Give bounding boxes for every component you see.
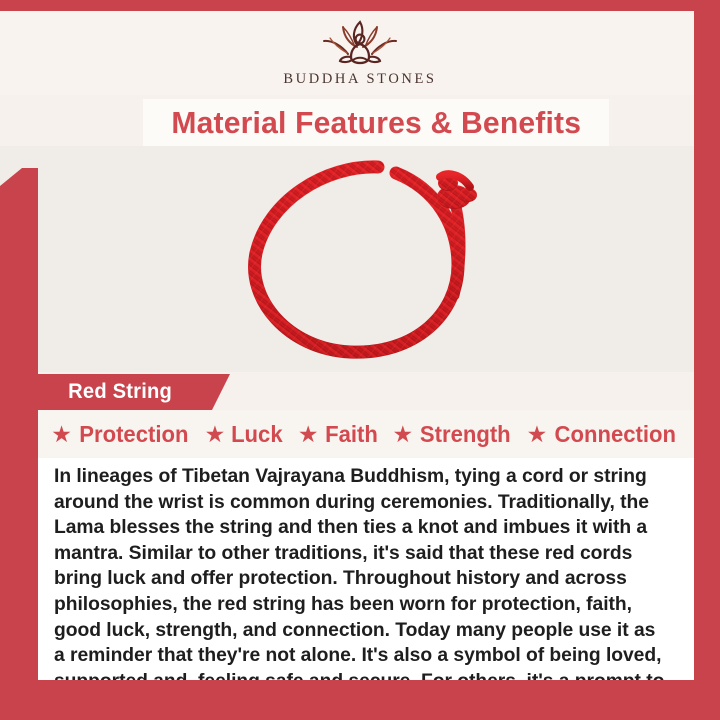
brand-header: BUDDHA STONES — [0, 11, 720, 95]
frame-bar-top — [0, 0, 720, 11]
product-name-ribbon: Red String — [38, 374, 230, 410]
benefit-label: Strength — [420, 421, 511, 448]
description-panel: In lineages of Tibetan Vajrayana Buddhis… — [38, 458, 694, 680]
lotus-meditation-icon — [308, 16, 412, 68]
page-title: Material Features & Benefits — [171, 105, 581, 141]
title-banner: Material Features & Benefits — [143, 99, 609, 146]
brand-logo: BUDDHA STONES — [283, 16, 436, 88]
star-icon: ★ — [392, 423, 413, 446]
benefit-label: Protection — [79, 421, 188, 448]
star-icon: ★ — [51, 423, 72, 446]
product-name-label: Red String — [68, 380, 172, 404]
red-braided-string-bracelet-image — [230, 153, 490, 365]
benefits-band: ★ Protection ★ Luck ★ Faith ★ Strength ★… — [0, 410, 720, 458]
frame-bar-bottom — [0, 680, 720, 720]
frame-bar-right — [694, 0, 720, 720]
benefit-item: ★ Strength — [392, 421, 512, 448]
star-icon: ★ — [205, 423, 226, 446]
benefit-item: ★ Protection — [51, 421, 190, 448]
poster-root: BUDDHA STONES Material Features & Benefi… — [0, 0, 720, 720]
benefit-label: Luck — [231, 421, 283, 448]
star-icon: ★ — [298, 423, 319, 446]
product-image-area — [0, 146, 720, 372]
brand-name: BUDDHA STONES — [283, 71, 436, 88]
benefit-item: ★ Faith — [298, 421, 379, 448]
benefit-label: Connection — [555, 421, 676, 448]
star-icon: ★ — [527, 423, 548, 446]
benefits-list: ★ Protection ★ Luck ★ Faith ★ Strength ★… — [51, 421, 679, 448]
benefit-label: Faith — [325, 421, 378, 448]
benefit-item: ★ Luck — [205, 421, 284, 448]
benefit-item: ★ Connection — [527, 421, 679, 448]
frame-bar-left — [0, 168, 38, 680]
